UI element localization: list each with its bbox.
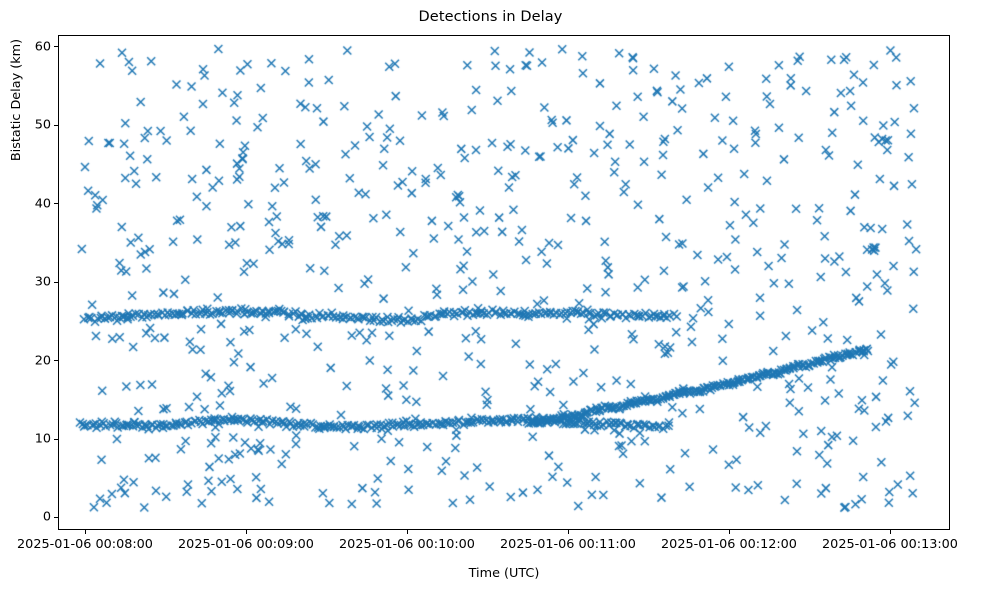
x-axis-ticks: 2025-01-06 00:08:002025-01-06 00:09:0020… xyxy=(0,0,981,590)
x-axis-label: Time (UTC) xyxy=(58,566,950,581)
x-tick-mark xyxy=(729,530,730,534)
figure-canvas: Detections in Delay 0102030405060 2025-0… xyxy=(0,0,981,590)
x-tick-label: 2025-01-06 00:08:00 xyxy=(17,537,153,552)
x-tick-label: 2025-01-06 00:09:00 xyxy=(178,537,314,552)
x-tick-label: 2025-01-06 00:11:00 xyxy=(500,537,636,552)
x-tick-mark xyxy=(890,530,891,534)
x-tick-label: 2025-01-06 00:13:00 xyxy=(822,537,958,552)
x-tick-label: 2025-01-06 00:12:00 xyxy=(661,537,797,552)
y-axis-label: Bistatic Delay (km) xyxy=(9,0,24,200)
x-tick-mark xyxy=(85,530,86,534)
x-tick-mark xyxy=(407,530,408,534)
x-tick-label: 2025-01-06 00:10:00 xyxy=(339,537,475,552)
x-tick-mark xyxy=(568,530,569,534)
x-tick-mark xyxy=(246,530,247,534)
